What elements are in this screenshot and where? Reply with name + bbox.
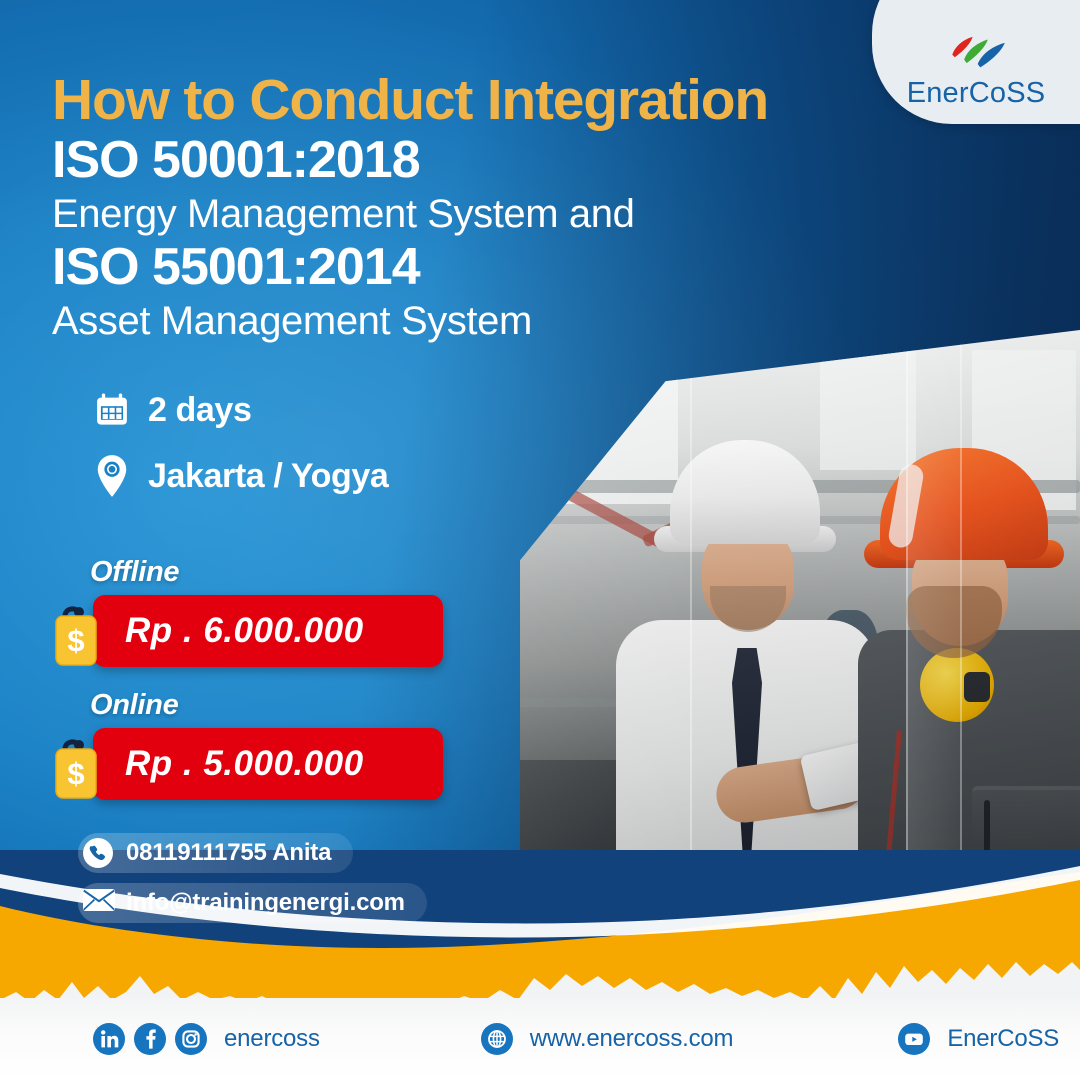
detail-duration: 2 days bbox=[92, 388, 388, 432]
headline-iso-50001: ISO 50001:2018 bbox=[52, 133, 902, 188]
headline-asset-system: Asset Management System bbox=[52, 299, 902, 343]
instagram-icon[interactable] bbox=[174, 1022, 208, 1056]
headline-iso-55001: ISO 55001:2014 bbox=[52, 240, 902, 295]
enercoss-logo-mark bbox=[933, 31, 1019, 75]
price-tag-icon: $ bbox=[50, 732, 124, 806]
promo-poster: How to Conduct Integration ISO 50001:201… bbox=[0, 0, 1080, 1080]
location-label: Jakarta / Yogya bbox=[148, 457, 388, 496]
linkedin-icon[interactable] bbox=[92, 1022, 126, 1056]
price-offline-label: Offline bbox=[90, 556, 508, 589]
price-online: Online Rp . 5.000.000 $ bbox=[88, 689, 508, 800]
event-details: 2 days Jakarta / Yogya bbox=[92, 388, 388, 520]
location-pin-icon bbox=[92, 454, 132, 498]
contact-phone[interactable]: 08119111755 Anita bbox=[78, 833, 353, 873]
duration-label: 2 days bbox=[148, 391, 251, 430]
price-online-bar: Rp . 5.000.000 bbox=[93, 728, 443, 800]
enercoss-logo-text: EnerCoSS bbox=[907, 77, 1046, 110]
website-url: www.enercoss.com bbox=[530, 1025, 734, 1053]
price-offline: Offline Rp . 6.000.000 $ bbox=[88, 556, 508, 667]
footer-website-group[interactable]: www.enercoss.com bbox=[480, 1022, 734, 1056]
footer-bar: enercoss www.enercoss.com bbox=[0, 998, 1080, 1080]
calendar-icon bbox=[92, 388, 132, 432]
pricing-block: Offline Rp . 6.000.000 $ Online bbox=[88, 556, 508, 822]
detail-location: Jakarta / Yogya bbox=[92, 454, 388, 498]
youtube-channel: EnerCoSS bbox=[947, 1025, 1059, 1053]
email-icon bbox=[82, 887, 114, 919]
social-handle: enercoss bbox=[224, 1025, 320, 1053]
headline-energy-system: Energy Management System and bbox=[52, 192, 902, 236]
price-offline-amount: Rp . 6.000.000 bbox=[125, 611, 364, 651]
phone-number: 08119111755 Anita bbox=[126, 839, 331, 867]
svg-text:$: $ bbox=[67, 756, 84, 791]
contact-block: 08119111755 Anita info@trainingenergi.co… bbox=[78, 833, 427, 933]
brand-logo-badge: EnerCoSS bbox=[872, 0, 1080, 124]
facebook-icon[interactable] bbox=[133, 1022, 167, 1056]
footer-youtube-group[interactable]: EnerCoSS bbox=[897, 1022, 1059, 1056]
headline-block: How to Conduct Integration ISO 50001:201… bbox=[52, 72, 902, 345]
youtube-icon bbox=[897, 1022, 931, 1056]
contact-email[interactable]: info@trainingenergi.com bbox=[78, 883, 427, 923]
footer-social-group: enercoss bbox=[92, 1022, 320, 1056]
price-online-amount: Rp . 5.000.000 bbox=[125, 744, 364, 784]
phone-icon bbox=[82, 837, 114, 869]
price-offline-bar: Rp . 6.000.000 bbox=[93, 595, 443, 667]
price-tag-icon: $ bbox=[50, 599, 124, 673]
email-address: info@trainingenergi.com bbox=[126, 889, 405, 917]
svg-text:$: $ bbox=[67, 623, 84, 658]
price-online-label: Online bbox=[90, 689, 508, 722]
globe-icon bbox=[480, 1022, 514, 1056]
headline-primary: How to Conduct Integration bbox=[52, 72, 902, 129]
